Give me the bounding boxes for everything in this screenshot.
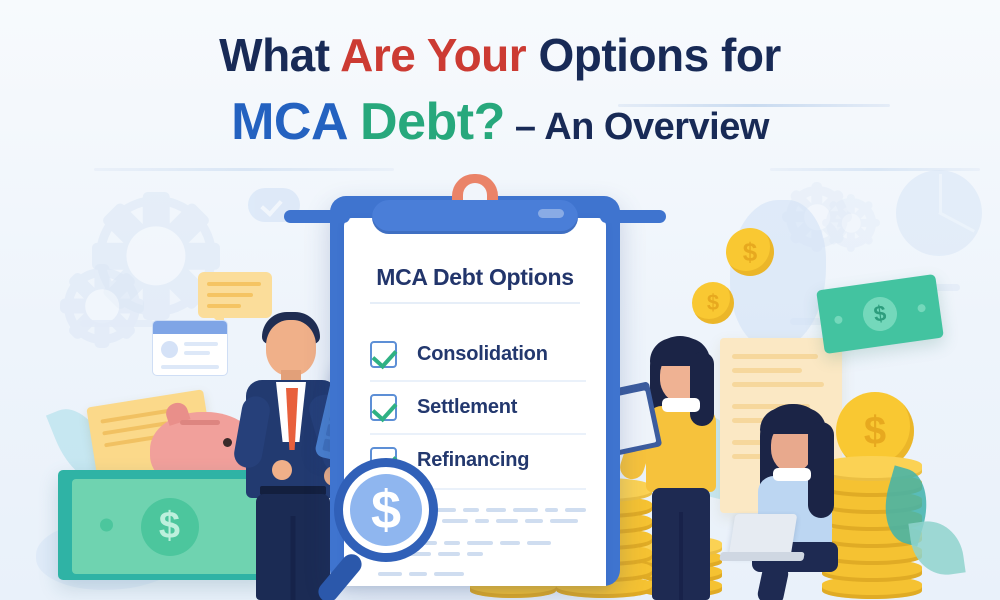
checklist-item-consolidation[interactable]: Consolidation [370, 328, 586, 381]
dollar-bill-icon: $ [816, 274, 944, 354]
check-icon[interactable] [370, 341, 397, 368]
dollar-symbol: $ [861, 295, 899, 333]
infographic-canvas: What Are Your Options for MCA Debt? – An… [0, 0, 1000, 600]
checklist-row-divider [370, 380, 586, 382]
coin-icon: $ [726, 228, 774, 276]
title-part-are-your: Are Your [340, 29, 538, 81]
title-part-an-overview: – An Overview [505, 106, 769, 148]
checklist-row-divider [370, 433, 586, 435]
header-divider-rule [770, 168, 980, 171]
checklist-label: Settlement [417, 396, 517, 419]
page-title-line-1: What Are Your Options for [0, 28, 1000, 82]
woman-with-laptop-illustration [742, 404, 854, 600]
page-title-line-2: MCA Debt? – An Overview [0, 92, 1000, 152]
title-part-what: What [219, 29, 340, 81]
decor-bar [80, 320, 154, 327]
clipboard-arm-right [600, 210, 666, 223]
header-divider-rule [94, 168, 394, 171]
checklist-label: Consolidation [417, 343, 548, 366]
title-part-debt: Debt? [360, 93, 505, 151]
clipboard-title-divider [370, 302, 580, 304]
title-part-options-for: Options for [538, 29, 780, 81]
dollar-symbol: $ [350, 474, 422, 546]
gear-icon [64, 268, 140, 344]
laptop-icon [720, 514, 804, 562]
clipboard-title: MCA Debt Options [344, 264, 606, 291]
clipboard-clip-icon [372, 200, 578, 234]
coin-icon: $ [692, 282, 734, 324]
gear-icon [786, 186, 848, 248]
gear-icon [826, 198, 876, 248]
check-icon[interactable] [370, 394, 397, 421]
browser-card-icon [152, 320, 228, 376]
pie-chart-icon [896, 170, 982, 256]
title-part-mca: MCA [231, 93, 360, 151]
magnifying-glass-dollar-icon: $ [326, 458, 446, 598]
checklist-item-settlement[interactable]: Settlement [370, 381, 586, 434]
woman-with-clipboard-illustration [628, 336, 734, 600]
clipboard-arm-left [284, 210, 350, 223]
